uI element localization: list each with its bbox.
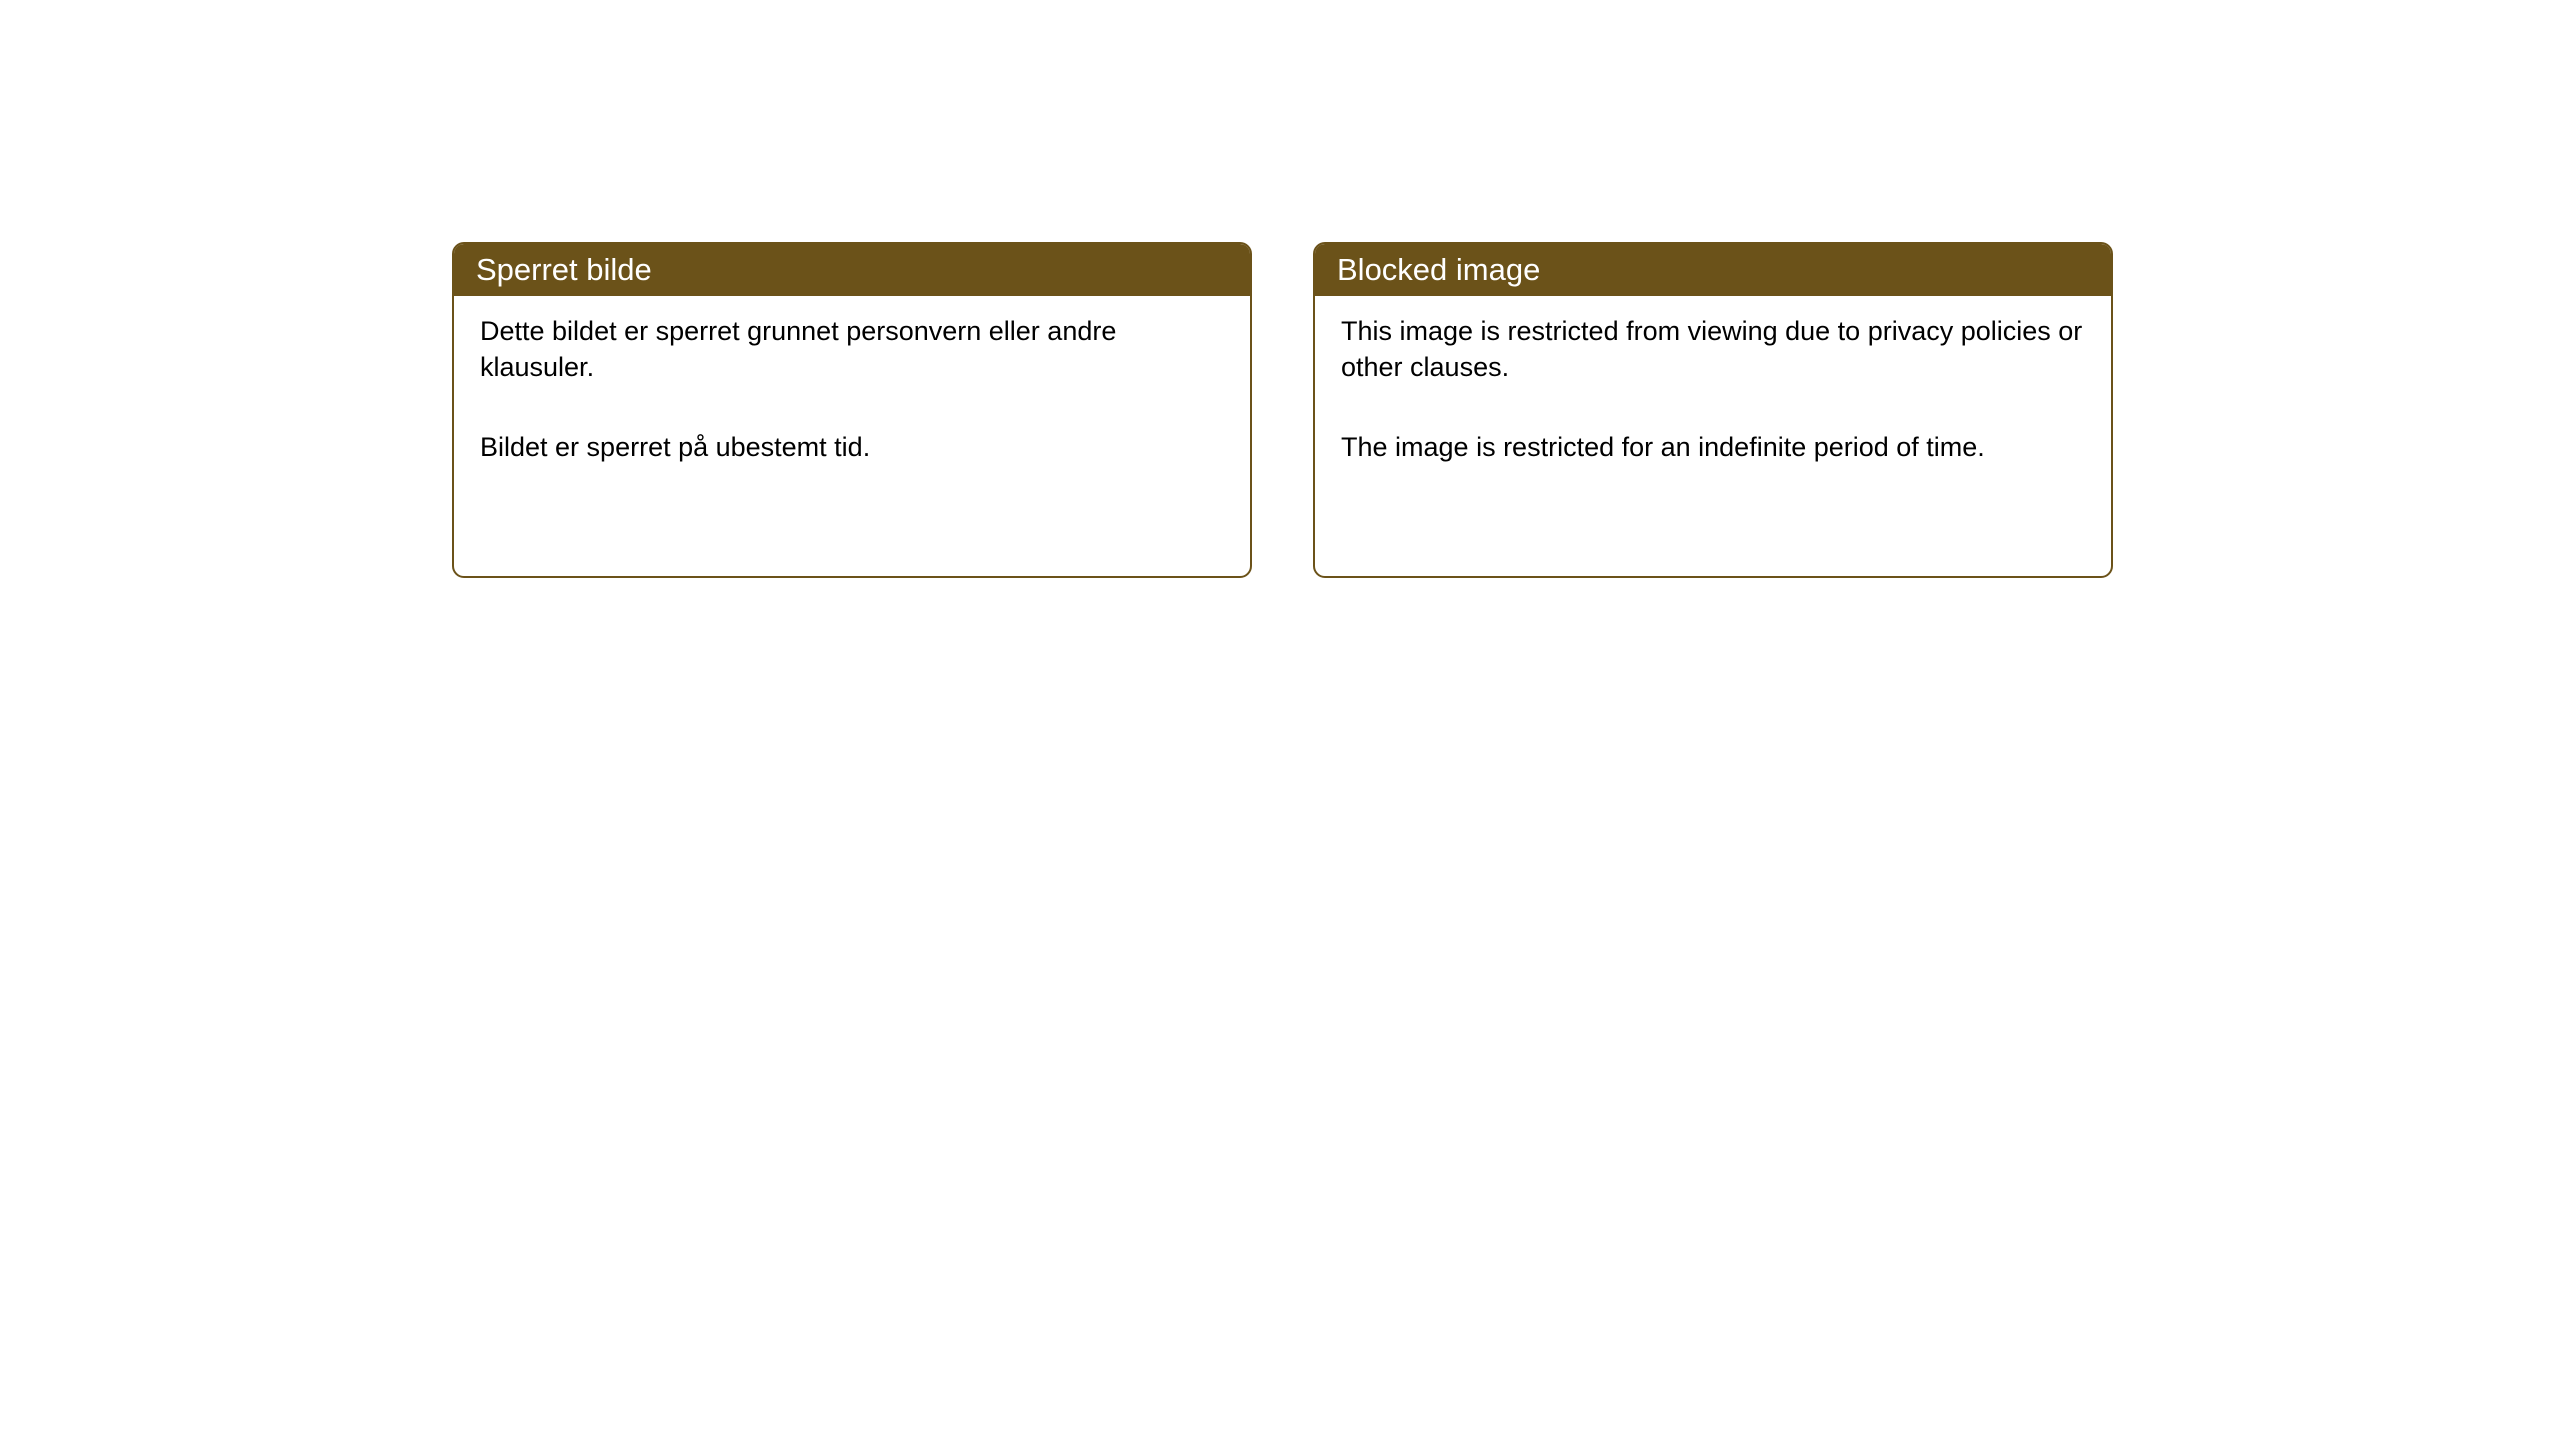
notice-paragraph-reason-english: This image is restricted from viewing du… bbox=[1341, 314, 2085, 386]
card-body-norwegian: Dette bildet er sperret grunnet personve… bbox=[454, 296, 1250, 576]
blocked-image-card-norwegian: Sperret bilde Dette bildet er sperret gr… bbox=[452, 242, 1252, 578]
blocked-image-notice-area: Sperret bilde Dette bildet er sperret gr… bbox=[452, 242, 2113, 578]
card-title-norwegian: Sperret bilde bbox=[476, 254, 652, 285]
card-title-english: Blocked image bbox=[1337, 254, 1540, 285]
notice-paragraph-duration-english: The image is restricted for an indefinit… bbox=[1341, 430, 2085, 466]
notice-paragraph-reason-norwegian: Dette bildet er sperret grunnet personve… bbox=[480, 314, 1224, 386]
blocked-image-card-english: Blocked image This image is restricted f… bbox=[1313, 242, 2113, 578]
card-header-norwegian: Sperret bilde bbox=[452, 242, 1252, 296]
card-body-english: This image is restricted from viewing du… bbox=[1315, 296, 2111, 576]
notice-paragraph-duration-norwegian: Bildet er sperret på ubestemt tid. bbox=[480, 430, 1224, 466]
card-header-english: Blocked image bbox=[1313, 242, 2113, 296]
